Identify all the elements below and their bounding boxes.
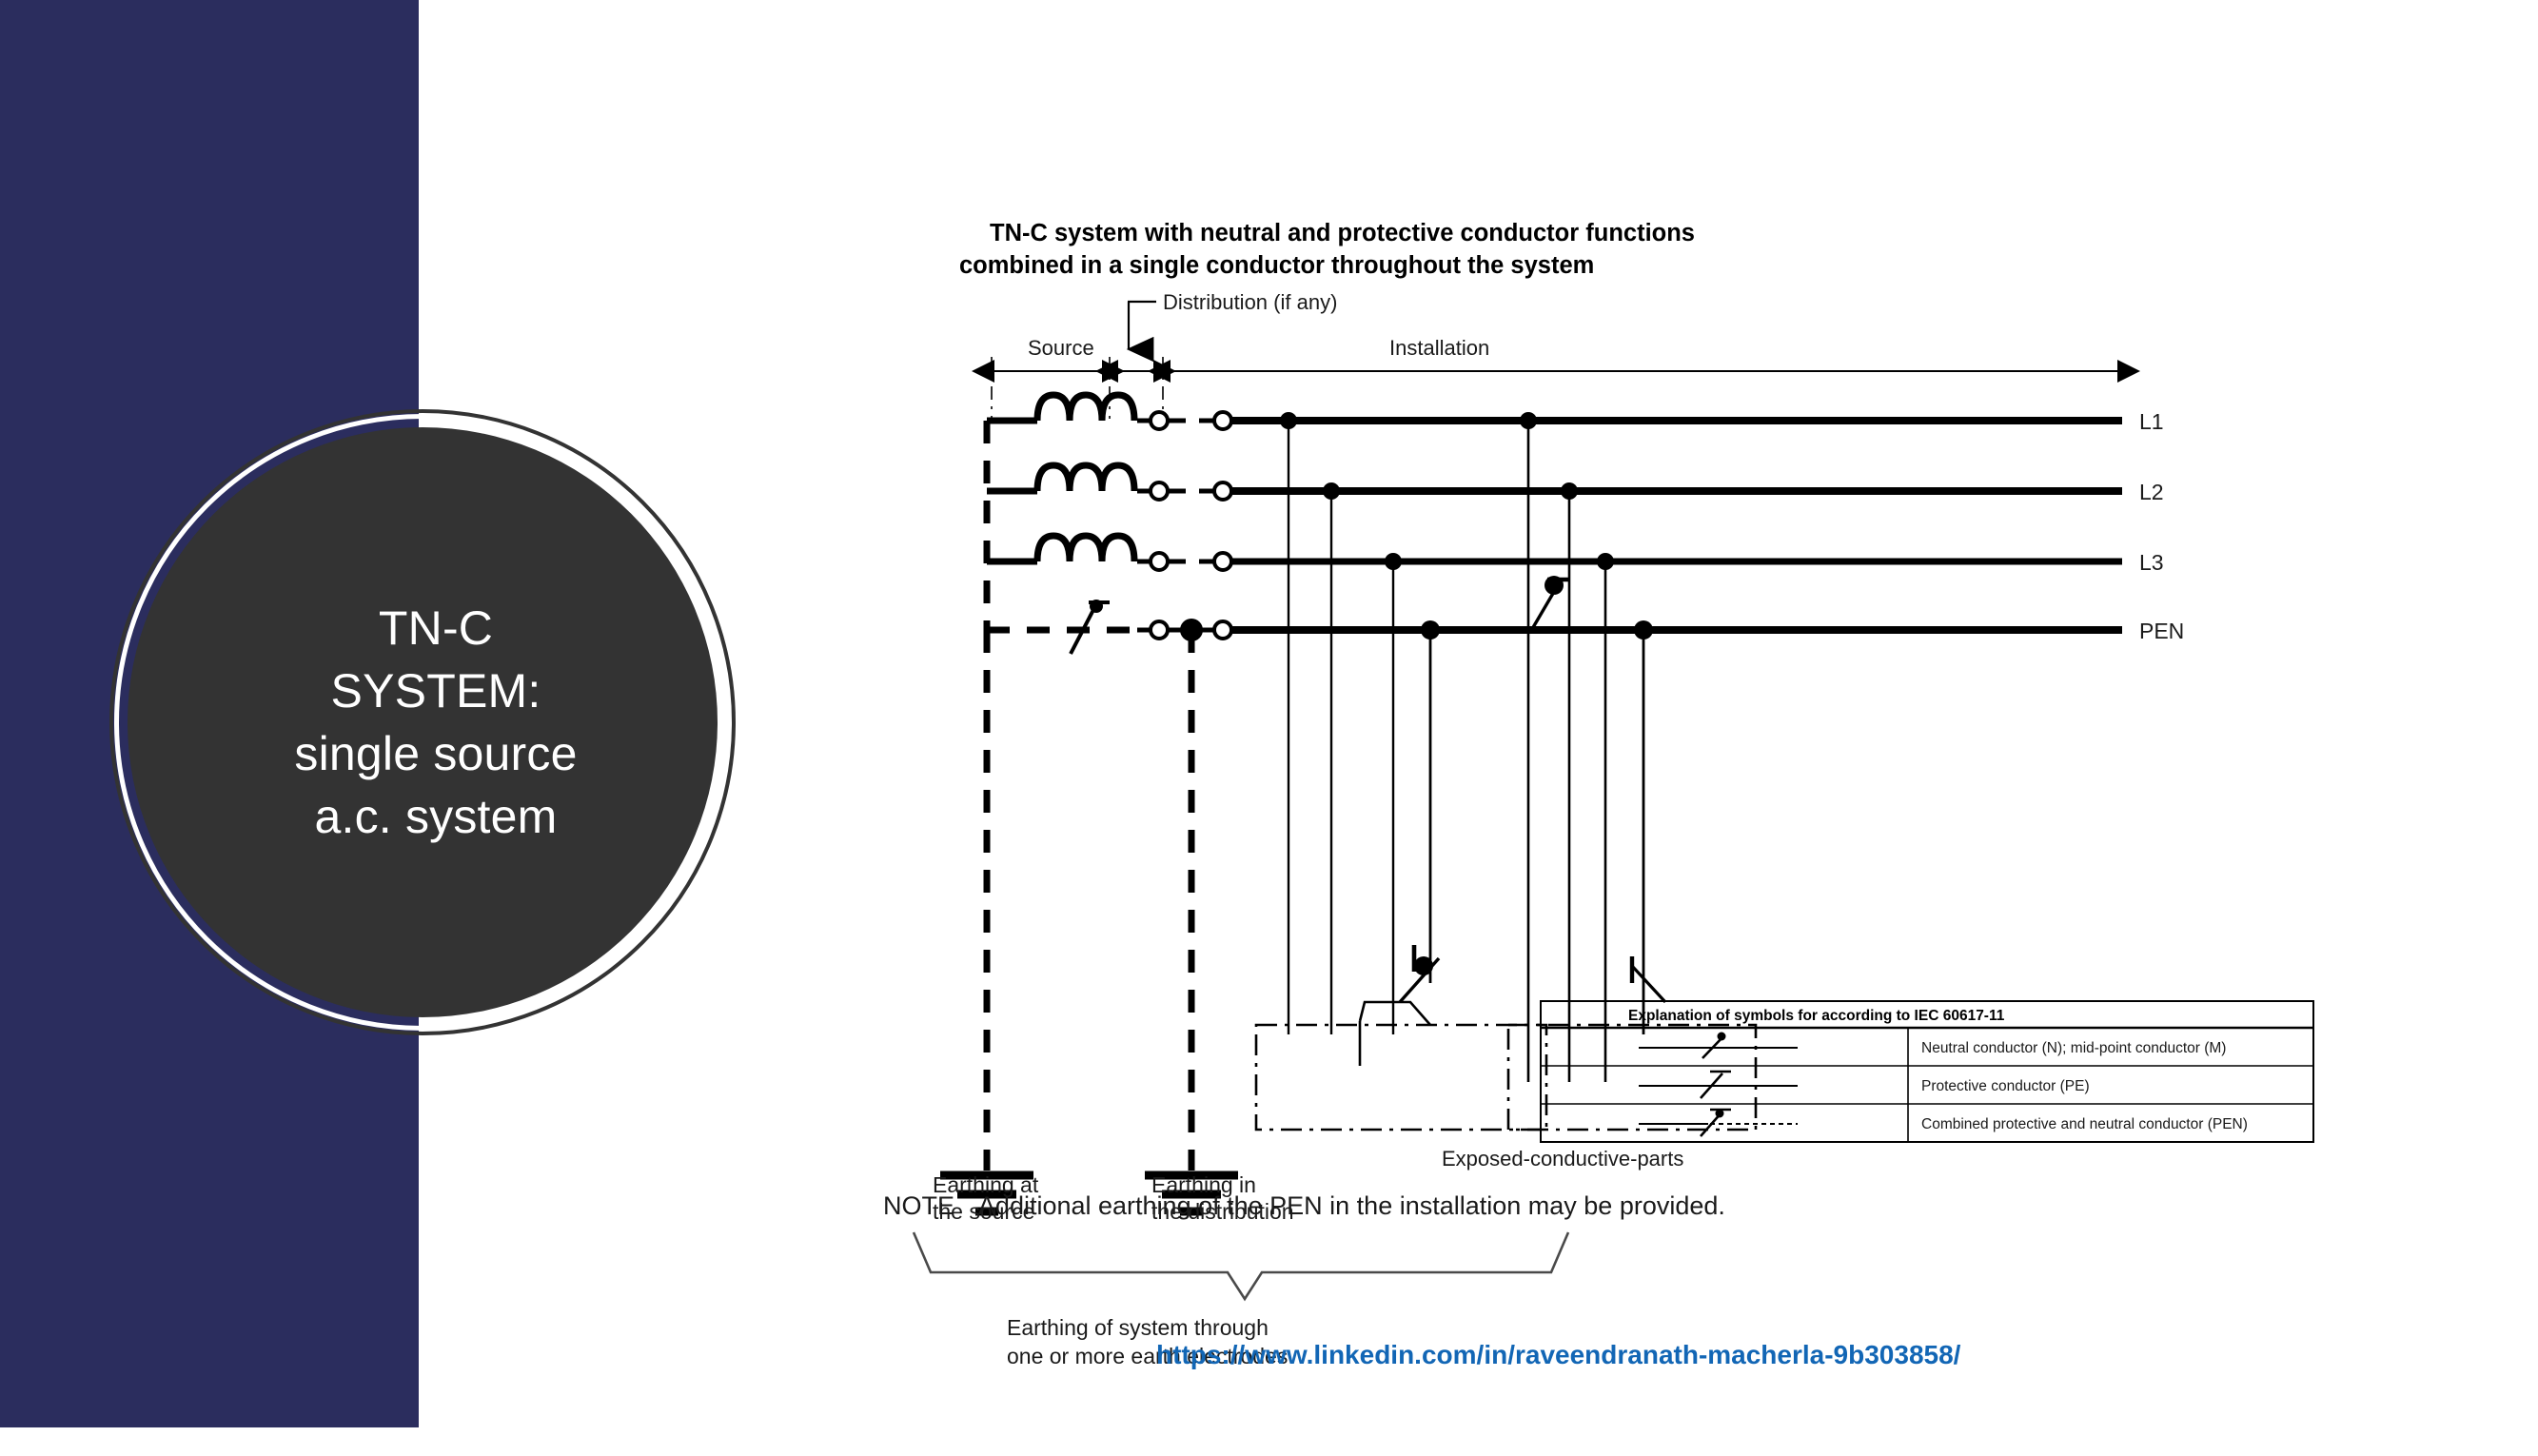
legend-label-1: Neutral conductor (N); mid-point conduct… — [1921, 1040, 2226, 1056]
span-source-label: Source — [1028, 336, 1094, 360]
combined-pen-conductor-symbol — [1639, 1110, 1798, 1137]
badge-text: TN-C SYSTEM: single source a.c. system — [156, 597, 689, 848]
symbol-legend-table: Explanation of symbols for according to … — [1539, 999, 2319, 1175]
diagram-title-line2: combined in a single conductor throughou… — [959, 252, 1594, 279]
bus-label-pen: PEN — [2139, 619, 2184, 643]
badge-disc: TN-C SYSTEM: single source a.c. system — [128, 427, 718, 1017]
legend-label-2: Protective conductor (PE) — [1921, 1078, 2090, 1094]
earth-electrode-distribution — [1145, 630, 1238, 1211]
badge-line-3: single source — [183, 722, 689, 785]
neutral-conductor-symbol — [1639, 1033, 1798, 1059]
note-prefix: NOTE — [883, 1191, 954, 1220]
load-group-1-drops — [1280, 412, 1440, 1034]
source-terminals — [1137, 412, 1231, 641]
bus-label-l3: L3 — [2139, 550, 2164, 575]
protective-conductor-symbol-load2 — [1632, 956, 1665, 1002]
legend-header: Explanation of symbols for according to … — [1628, 1008, 2005, 1024]
source-winding-l1 — [994, 395, 1134, 421]
badge-line-4: a.c. system — [183, 785, 689, 848]
callout-distribution-label: Distribution (if any) — [1163, 290, 1337, 314]
linkedin-profile-link[interactable]: https://www.linkedin.com/in/raveendranat… — [1156, 1340, 1960, 1370]
earth-electrode-source — [940, 630, 1033, 1211]
bus-conductors — [1231, 421, 2122, 630]
badge-line-1: TN-C — [183, 597, 689, 659]
note-text: Additional earthing of the PEN in the in… — [978, 1191, 1725, 1220]
bus-label-l2: L2 — [2139, 480, 2164, 504]
note-row: NOTE Additional earthing of the PEN in t… — [883, 1191, 1725, 1221]
brace-caption-line1: Earthing of system through — [1007, 1315, 1269, 1340]
legend-label-3: Combined protective and neutral conducto… — [1921, 1116, 2248, 1132]
source-winding-l2 — [994, 465, 1134, 491]
badge-line-2: SYSTEM: — [183, 659, 689, 722]
protective-conductor-symbol — [1639, 1072, 1798, 1098]
span-installation-label: Installation — [1389, 336, 1489, 360]
pen-conductor-symbol-installation — [1532, 576, 1570, 629]
diagram-title-line1: TN-C system with neutral and protective … — [990, 220, 1695, 246]
title-badge: TN-C SYSTEM: single source a.c. system — [114, 414, 731, 1031]
source-winding-l3 — [994, 536, 1134, 561]
earthing-brace — [914, 1232, 1568, 1299]
protective-conductor-symbol-load1 — [1400, 945, 1439, 1002]
exposed-conductive-part-box-1 — [1256, 1025, 1546, 1130]
bus-label-l1: L1 — [2139, 409, 2164, 434]
